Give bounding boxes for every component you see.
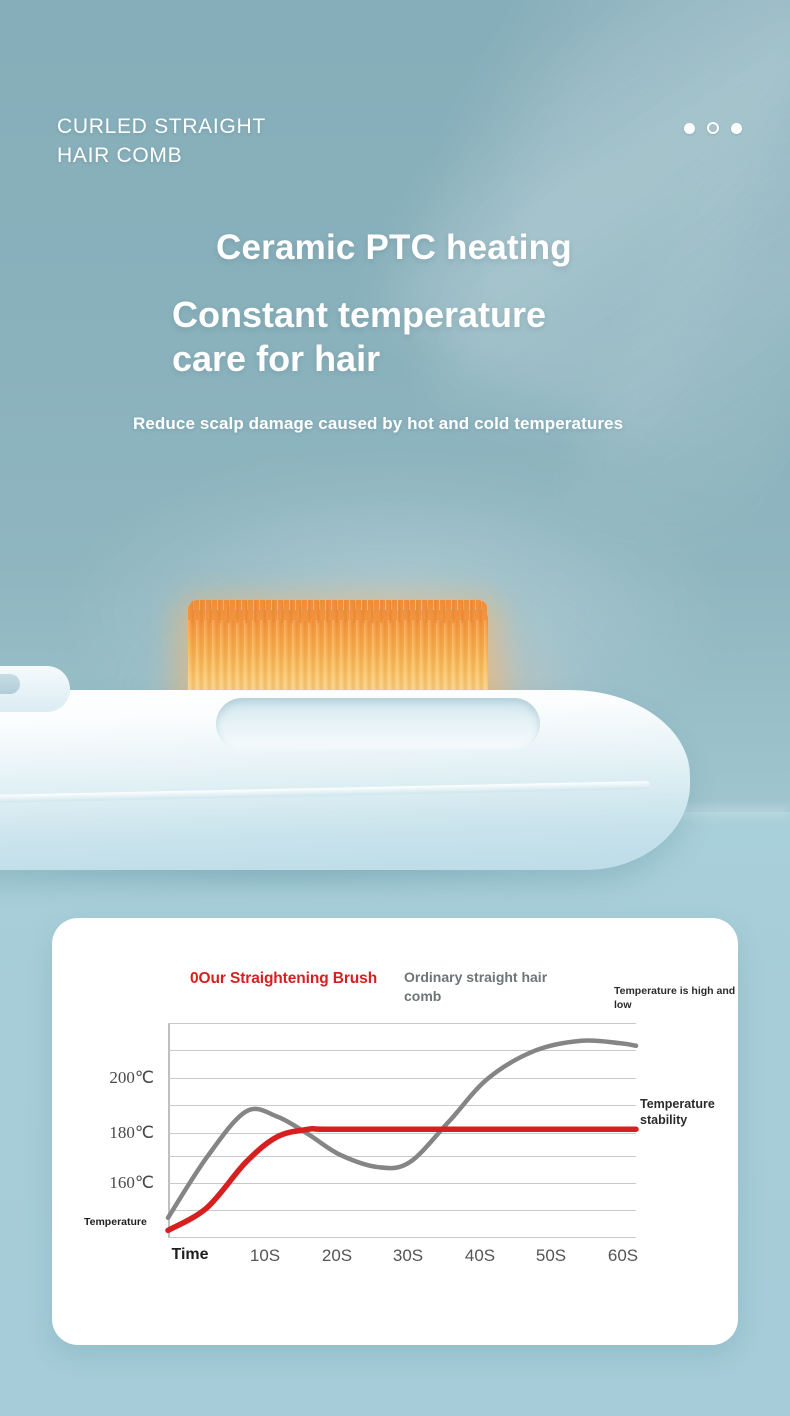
x-tick-40s: 40S [465,1246,495,1266]
y-axis-title: Temperature [84,1216,147,1228]
headline-secondary-line-1: Constant temperature [172,293,546,337]
brand-line-1: CURLED STRAIGHT [57,112,266,141]
pagination-dot-1[interactable] [684,123,695,134]
bristle-teeth [188,601,488,623]
product-bristle-slot [216,698,540,750]
product-body-main [0,690,690,870]
brand-line-2: HAIR COMB [57,141,266,170]
series-line-ours [168,1129,636,1231]
chart-series-svg [168,1023,636,1238]
x-tick-60s: 60S [608,1246,638,1266]
legend-ours: 0Our Straightening Brush [190,970,377,988]
y-axis-tick-labels: 200℃ 180℃ 160℃ [52,1023,162,1238]
x-axis-tick-labels: Time 10S 20S 30S 40S 50S 60S [168,1246,668,1276]
pagination-dots[interactable] [684,122,742,134]
y-tick-180: 180℃ [109,1123,154,1143]
product-control-button[interactable] [0,674,20,694]
annotation-stability: Temperature stability [640,1096,750,1128]
annotation-high-low: Temperature is high and low [614,984,740,1012]
headline-secondary-line-2: care for hair [172,337,546,381]
x-tick-time: Time [171,1246,208,1264]
product-marketing-page: CURLED STRAIGHT HAIR COMB Ceramic PTC he… [0,0,790,1416]
legend-ordinary: Ordinary straight hair comb [404,968,564,1006]
y-tick-200: 200℃ [109,1068,154,1088]
temperature-chart-card: 0Our Straightening Brush Ordinary straig… [52,918,738,1345]
headline-primary: Ceramic PTC heating [216,228,572,268]
product-image [0,540,790,920]
x-tick-30s: 30S [393,1246,423,1266]
pagination-dot-2[interactable] [707,122,719,134]
headline-secondary: Constant temperature care for hair [172,293,546,381]
pagination-dot-3[interactable] [731,123,742,134]
x-tick-20s: 20S [322,1246,352,1266]
headline-subline: Reduce scalp damage caused by hot and co… [133,414,623,434]
x-tick-10s: 10S [250,1246,280,1266]
chart-plot-area [168,1023,636,1238]
x-tick-50s: 50S [536,1246,566,1266]
product-seam-line [0,781,650,803]
brand-title: CURLED STRAIGHT HAIR COMB [57,112,266,170]
y-tick-160: 160℃ [109,1173,154,1193]
